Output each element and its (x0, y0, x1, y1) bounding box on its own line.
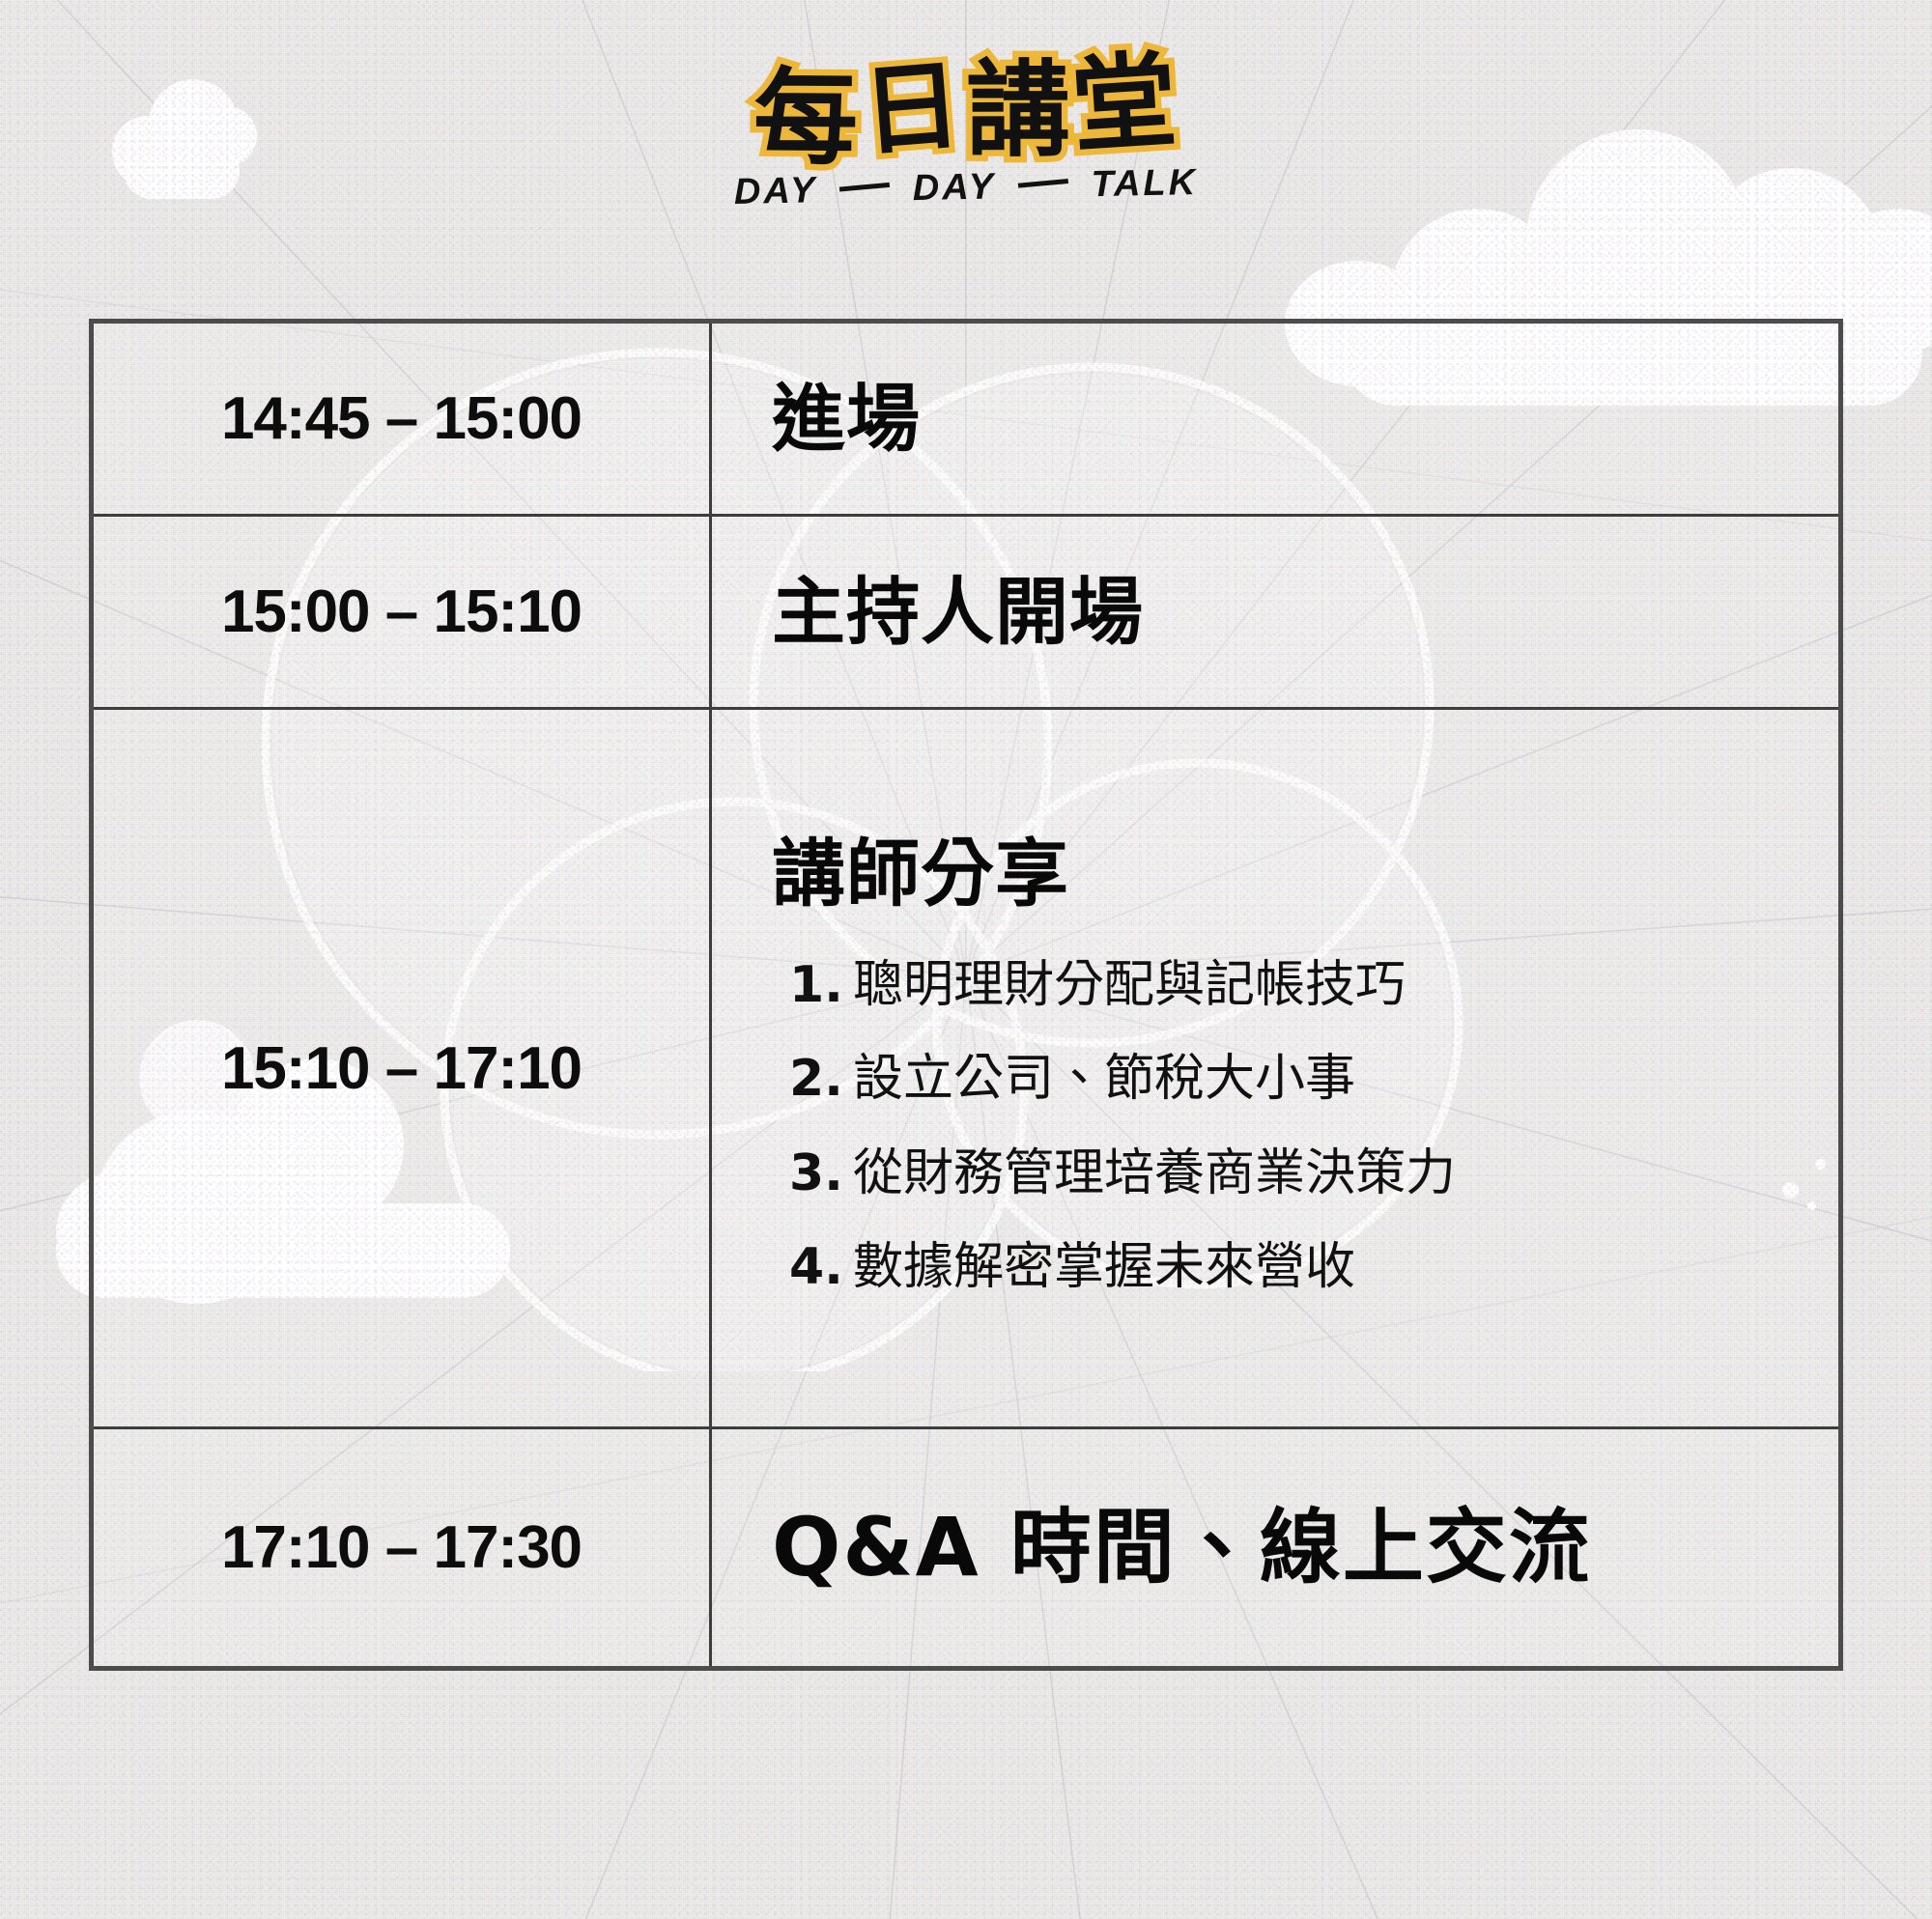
schedule-title-1: 進場 (772, 378, 1805, 460)
session-topic-number: 2. (789, 1050, 843, 1108)
logo-wordmark: 每日講堂 (752, 50, 1179, 172)
logo-char-4: 堂 (1068, 46, 1181, 162)
session-topic-number: 4. (789, 1238, 843, 1296)
schedule-time-cell-2: 15:00 – 15:10 (94, 517, 712, 707)
schedule-time-cell-1: 14:45 – 15:00 (94, 324, 712, 514)
schedule-time-4: 17:10 – 17:30 (221, 1513, 582, 1582)
logo-char-1: 每 (753, 64, 861, 174)
schedule-row-1: 14:45 – 15:00 進場 (94, 324, 1838, 517)
schedule-time-1: 14:45 – 15:00 (221, 384, 582, 453)
session-topic-item: 4.數據解密掌握未來營收 (789, 1231, 1805, 1304)
schedule-time-cell-4: 17:10 – 17:30 (94, 1429, 712, 1666)
schedule-title-4: Q&A 時間、線上交流 (772, 1502, 1805, 1593)
schedule-row-2: 15:00 – 15:10 主持人開場 (94, 517, 1838, 710)
tagline-word-2: DAY (912, 167, 996, 210)
session-topic-item: 2.設立公司、節稅大小事 (789, 1043, 1805, 1115)
brand-logo: 每日講堂 DAY DAY TALK (0, 56, 1932, 209)
schedule-time-2: 15:00 – 15:10 (221, 578, 582, 646)
tagline-word-3: TALK (1091, 162, 1198, 205)
session-topic-text: 數據解密掌握未來營收 (853, 1238, 1355, 1296)
schedule-time-3: 15:10 – 17:10 (221, 1034, 582, 1103)
schedule-content-cell-3: 講師分享 1.聰明理財分配與記帳技巧 2.設立公司、節稅大小事 3.從財務管理培… (712, 710, 1838, 1426)
logo-char-3: 講 (966, 56, 1072, 166)
tagline-dash-1 (839, 183, 890, 193)
session-topic-number: 3. (789, 1144, 843, 1202)
tagline-dash-2 (1018, 180, 1068, 189)
session-topic-text: 聰明理財分配與記帳技巧 (853, 956, 1406, 1014)
schedule-table: 14:45 – 15:00 進場 15:00 – 15:10 主持人開場 15:… (89, 319, 1843, 1671)
schedule-title-2: 主持人開場 (772, 571, 1805, 653)
tagline-word-1: DAY (733, 171, 817, 213)
schedule-time-cell-3: 15:10 – 17:10 (94, 710, 712, 1426)
session-topic-item: 3.從財務管理培養商業決策力 (789, 1138, 1805, 1210)
session-topic-list: 1.聰明理財分配與記帳技巧 2.設立公司、節稅大小事 3.從財務管理培養商業決策… (772, 949, 1805, 1305)
schedule-content-cell-1: 進場 (712, 324, 1838, 514)
session-topic-text: 從財務管理培養商業決策力 (853, 1144, 1456, 1202)
schedule-content-cell-4: Q&A 時間、線上交流 (712, 1429, 1838, 1666)
session-topic-number: 1. (789, 956, 843, 1014)
logo-char-2: 日 (859, 54, 967, 165)
schedule-row-4: 17:10 – 17:30 Q&A 時間、線上交流 (94, 1429, 1838, 1666)
session-topic-text: 設立公司、節稅大小事 (853, 1050, 1355, 1108)
schedule-title-3: 講師分享 (772, 833, 1805, 915)
schedule-row-3: 15:10 – 17:10 講師分享 1.聰明理財分配與記帳技巧 2.設立公司、… (94, 710, 1838, 1429)
schedule-content-cell-2: 主持人開場 (712, 517, 1838, 707)
session-topic-item: 1.聰明理財分配與記帳技巧 (789, 949, 1805, 1022)
